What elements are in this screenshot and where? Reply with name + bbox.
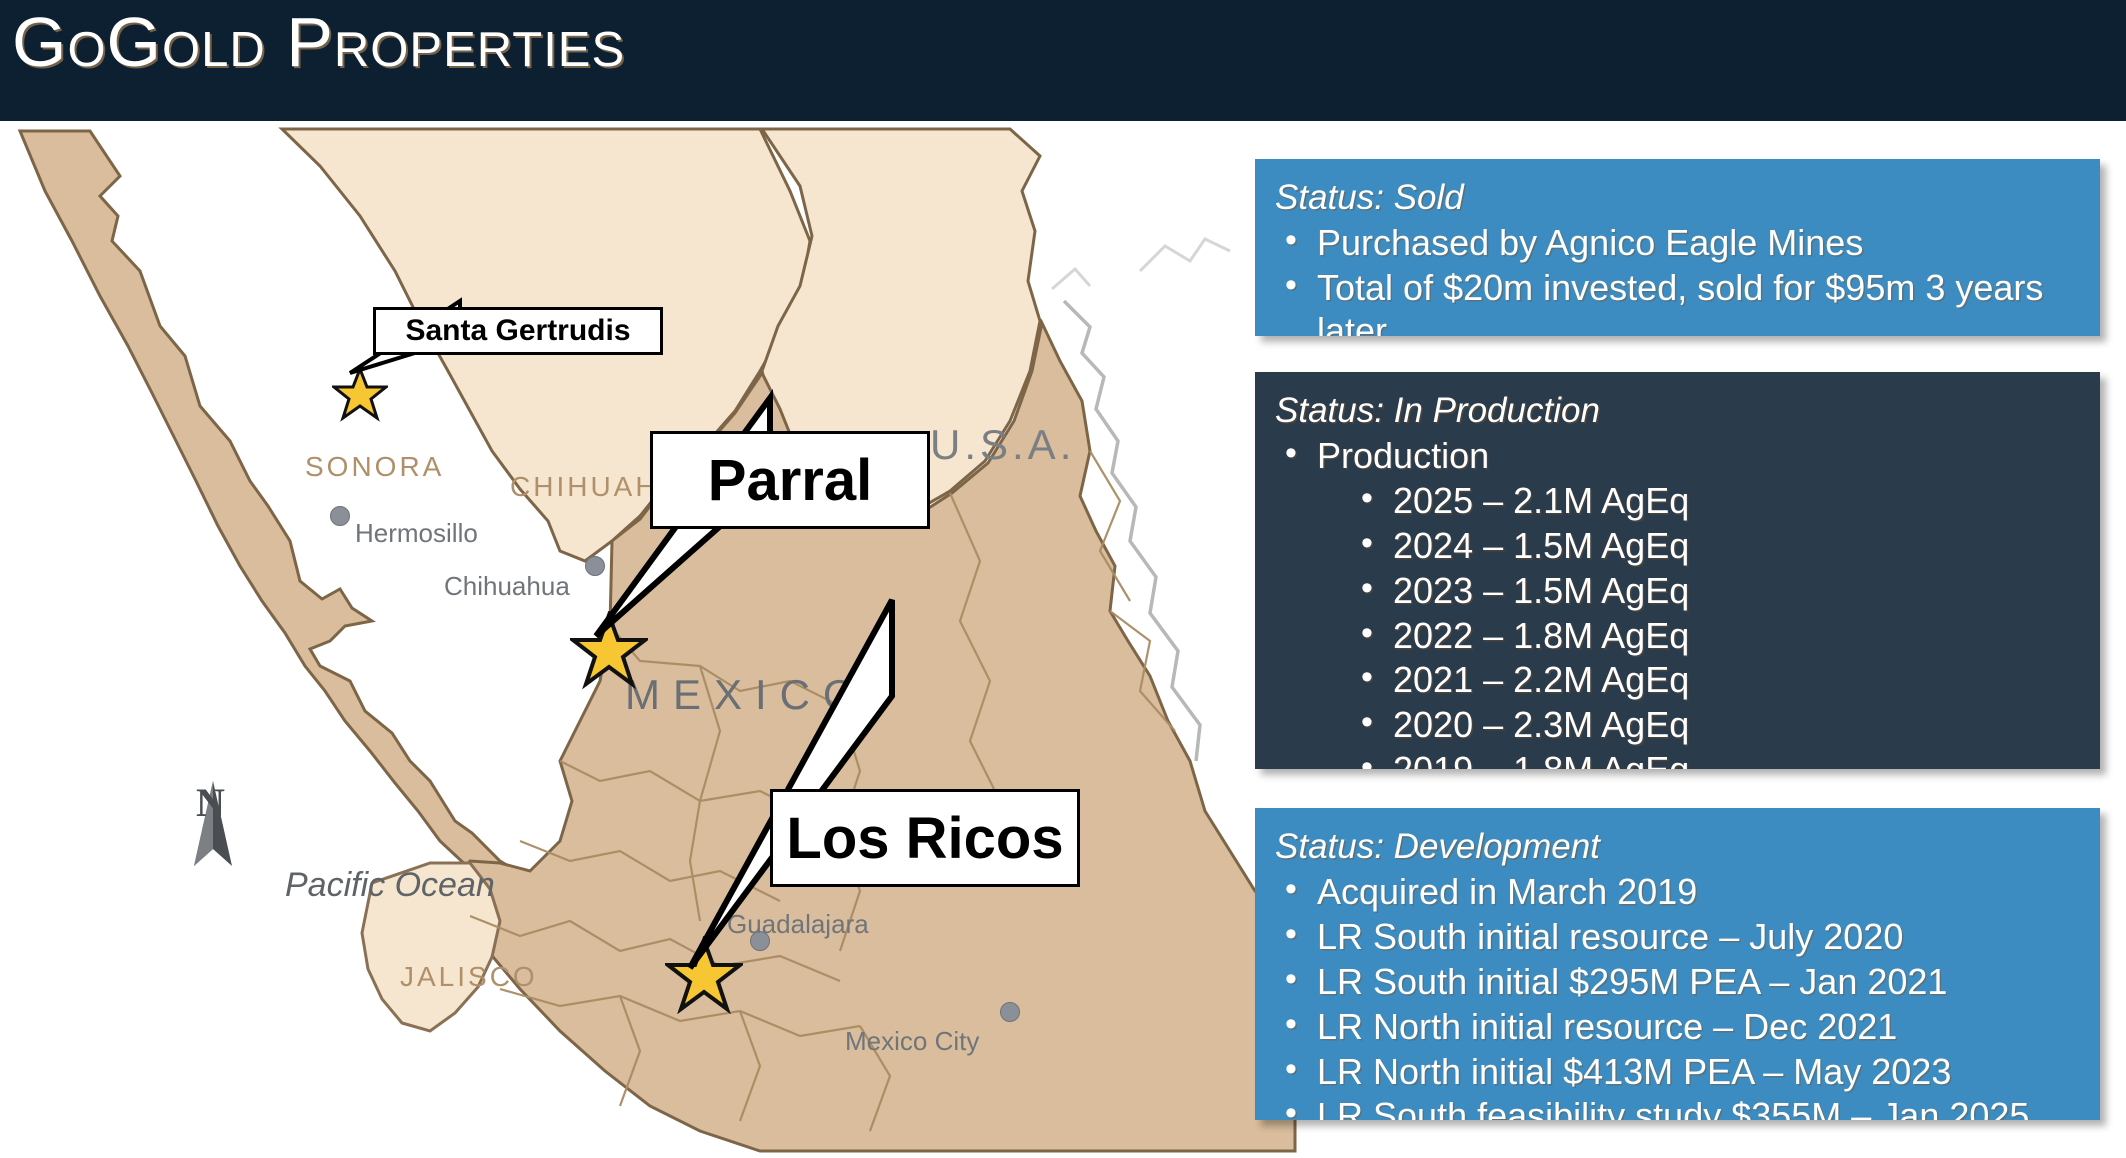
list-item: Total of $20m invested, sold for $95m 3 …	[1275, 267, 2078, 336]
callout-label-santa-gertrudis: Santa Gertrudis	[405, 314, 630, 348]
list-item: 2023 – 1.5M AgEq	[1351, 570, 2078, 613]
list-item: 2022 – 1.8M AgEq	[1351, 615, 2078, 658]
callout-tail-los-ricos	[672, 586, 902, 986]
callout-santa-gertrudis[interactable]: Santa Gertrudis	[373, 307, 663, 355]
info-panel-parral: Status: In Production Production 2025 – …	[1255, 372, 2100, 769]
list-item: LR North initial resource – Dec 2021	[1275, 1006, 2078, 1049]
compass-label-north: N	[196, 779, 225, 826]
list-item: 2024 – 1.5M AgEq	[1351, 525, 2078, 568]
callout-los-ricos[interactable]: Los Ricos	[770, 789, 1080, 887]
list-item: Acquired in March 2019	[1275, 871, 2078, 914]
status-badge-development: Status: Development	[1275, 826, 2078, 867]
mexico-map: MEXICO U.S.A. Pacific Ocean SONORA CHIHU…	[0, 121, 1300, 1158]
info-panel-santa-gertrudis: Status: Sold Purchased by Agnico Eagle M…	[1255, 159, 2100, 336]
list-item: Purchased by Agnico Eagle Mines	[1275, 222, 2078, 265]
city-dot-mexico-city	[1000, 1002, 1020, 1022]
list-item: LR South feasibility study $355M – Jan 2…	[1275, 1095, 2078, 1120]
list-item: 2025 – 2.1M AgEq	[1351, 480, 2078, 523]
bullet-list-production-years: 2025 – 2.1M AgEq 2024 – 1.5M AgEq 2023 –…	[1351, 480, 2078, 769]
callout-label-parral: Parral	[708, 447, 872, 514]
status-badge-sold: Status: Sold	[1275, 177, 2078, 218]
list-item: LR North initial $413M PEA – May 2023	[1275, 1051, 2078, 1094]
page-title: GoGold Properties	[12, 2, 625, 82]
list-item: LR South initial resource – July 2020	[1275, 916, 2078, 959]
info-panel-los-ricos: Status: Development Acquired in March 20…	[1255, 808, 2100, 1120]
status-badge-in-production: Status: In Production	[1275, 390, 2078, 431]
bullet-list-sold: Purchased by Agnico Eagle Mines Total of…	[1275, 222, 2078, 336]
list-item: LR South initial $295M PEA – Jan 2021	[1275, 961, 2078, 1004]
header-bar: GoGold Properties	[0, 0, 2126, 121]
list-item: 2020 – 2.3M AgEq	[1351, 704, 2078, 747]
callout-label-los-ricos: Los Ricos	[786, 805, 1063, 872]
bullet-list-development: Acquired in March 2019 LR South initial …	[1275, 871, 2078, 1120]
slide-root: GoGold Properties	[0, 0, 2126, 1158]
bullet-list-production: Production	[1275, 435, 2078, 478]
list-item: 2019 – 1.8M AgEq	[1351, 749, 2078, 769]
list-item: Production	[1275, 435, 2078, 478]
callout-parral[interactable]: Parral	[650, 431, 930, 529]
list-item: 2021 – 2.2M AgEq	[1351, 659, 2078, 702]
city-dot-hermosillo	[330, 506, 350, 526]
